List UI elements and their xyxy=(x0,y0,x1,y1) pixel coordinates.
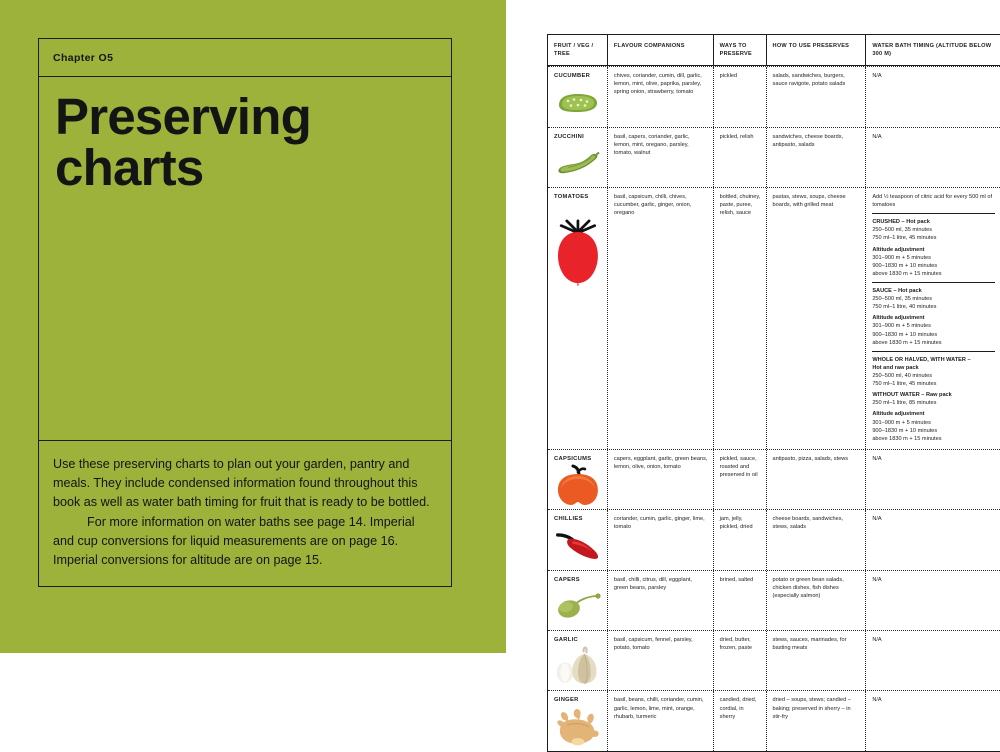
item-name: CUCUMBER xyxy=(554,72,602,80)
water-bath-cell: Add ½ teaspoon of citric acid for every … xyxy=(866,188,1000,449)
ways-to-preserve-cell: candied, dried, cordial, in sherry xyxy=(714,691,767,750)
water-bath-value: N/A xyxy=(872,456,881,462)
row-name-cell: CHILLIES xyxy=(548,510,608,569)
flavour-companions-cell: coriander, cumin, garlic, ginger, lime, … xyxy=(608,510,714,569)
sub-heading: Altitude adjustment xyxy=(872,246,995,254)
table-row: CHILLIES coriander, cumin, garlic, ginge… xyxy=(548,509,1000,569)
how-to-use-cell: antipasto, pizza, salads, stews xyxy=(767,450,867,509)
item-name: CAPERS xyxy=(554,576,602,584)
item-name: CAPSICUMS xyxy=(554,455,602,463)
column-header-1: FRUIT / VEG / TREE xyxy=(548,35,608,65)
item-name: ZUCCHINI xyxy=(554,133,602,141)
right-page: FRUIT / VEG / TREEFLAVOUR COMPANIONSWAYS… xyxy=(506,0,1000,653)
table-row: ZUCCHINI basil, capers, coriander, garli… xyxy=(548,127,1000,187)
item-name: GARLIC xyxy=(554,636,602,644)
water-bath-cell: N/A xyxy=(866,691,1000,750)
timing-line: 250–500 ml, 40 minutes xyxy=(872,372,995,380)
row-name-cell: TOMATOES xyxy=(548,188,608,449)
how-to-use-cell: potato or green bean salads, chicken dis… xyxy=(767,571,867,630)
timing-line: above 1830 m + 15 minutes xyxy=(872,435,995,443)
timing-line: 900–1830 m + 10 minutes xyxy=(872,331,995,339)
timing-line: 900–1830 m + 10 minutes xyxy=(872,427,995,435)
how-to-use-cell: cheese boards, sandwiches, stews, salads xyxy=(767,510,867,569)
water-bath-cell: N/A xyxy=(866,67,1000,126)
water-bath-value: N/A xyxy=(872,577,881,583)
flavour-companions-cell: basil, capsicum, fennel, parsley, potato… xyxy=(608,631,714,690)
water-bath-value: N/A xyxy=(872,697,881,703)
sub-heading: Altitude adjustment xyxy=(872,314,995,322)
ways-to-preserve-cell: brined, salted xyxy=(714,571,767,630)
ways-to-preserve-cell: bottled, chutney, paste, puree, relish, … xyxy=(714,188,767,449)
caper-icon xyxy=(554,586,602,624)
water-bath-value: N/A xyxy=(872,516,881,522)
row-name-cell: CUCUMBER xyxy=(548,67,608,126)
tomato-icon xyxy=(554,203,602,353)
water-bath-section: SAUCE – Hot pack250–500 ml, 35 minutes75… xyxy=(872,282,995,347)
ways-to-preserve-cell: pickled, relish xyxy=(714,128,767,187)
water-bath-cell: N/A xyxy=(866,128,1000,187)
column-header-4: HOW TO USE PRESERVES xyxy=(767,35,867,65)
how-to-use-cell: dried – soups, stews; candied – baking; … xyxy=(767,691,867,750)
chapter-frame: Chapter O5 Preserving charts Use these p… xyxy=(38,38,452,587)
table-row: GARLIC basil, capsicum, fennel, parsley,… xyxy=(548,630,1000,690)
flavour-companions-cell: chives, coriander, cumin, dill, garlic, … xyxy=(608,67,714,126)
how-to-use-cell: pastas, stews, soups, cheese boards, wit… xyxy=(767,188,867,449)
flavour-companions-cell: basil, beans, chilli, coriander, cumin, … xyxy=(608,691,714,750)
chilli-icon xyxy=(554,526,602,564)
timing-line: 750 ml–1 litre, 45 minutes xyxy=(872,234,995,242)
item-name: CHILLIES xyxy=(554,515,602,523)
flavour-companions-cell: basil, capers, coriander, garlic, lemon,… xyxy=(608,128,714,187)
preserving-chart-table: FRUIT / VEG / TREEFLAVOUR COMPANIONSWAYS… xyxy=(547,34,1000,752)
ways-to-preserve-cell: pickled xyxy=(714,67,767,126)
timing-line: 301–900 m + 5 minutes xyxy=(872,254,995,262)
left-page: Chapter O5 Preserving charts Use these p… xyxy=(0,0,506,653)
ginger-icon xyxy=(554,707,602,745)
column-header-3: WAYS TO PRESERVE xyxy=(714,35,767,65)
row-name-cell: CAPSICUMS xyxy=(548,450,608,509)
flavour-companions-cell: basil, capsicum, chilli, chives, cucumbe… xyxy=(608,188,714,449)
timing-line: 750 ml–1 litre, 45 minutes xyxy=(872,380,995,388)
water-bath-value: N/A xyxy=(872,134,881,140)
row-name-cell: GINGER xyxy=(548,691,608,750)
timing-line: above 1830 m + 15 minutes xyxy=(872,270,995,278)
column-header-2: FLAVOUR COMPANIONS xyxy=(608,35,714,65)
item-name: TOMATOES xyxy=(554,193,602,201)
timing-line: 301–900 m + 5 minutes xyxy=(872,419,995,427)
sub-heading: WITHOUT WATER – Raw pack xyxy=(872,391,995,399)
section-heading: CRUSHED – Hot pack xyxy=(872,218,995,226)
timing-line: 750 ml–1 litre, 40 minutes xyxy=(872,303,995,311)
water-bath-cell: N/A xyxy=(866,450,1000,509)
water-bath-cell: N/A xyxy=(866,571,1000,630)
section-heading-2: Hot and raw pack xyxy=(872,364,995,372)
water-bath-value: N/A xyxy=(872,637,881,643)
timing-line: 250 ml–1 litre, 85 minutes xyxy=(872,399,995,407)
section-heading: WHOLE OR HALVED, WITH WATER – xyxy=(872,356,995,364)
column-header-5: WATER BATH TIMING (ALTITUDE BELOW 300 M) xyxy=(866,35,1000,65)
timing-line: 900–1830 m + 10 minutes xyxy=(872,262,995,270)
how-to-use-cell: stews, sauces, marinades, for basting me… xyxy=(767,631,867,690)
item-name: GINGER xyxy=(554,696,602,704)
table-header-row: FRUIT / VEG / TREEFLAVOUR COMPANIONSWAYS… xyxy=(548,35,1000,66)
garlic-icon xyxy=(554,646,602,684)
cucumber-icon xyxy=(554,83,602,121)
water-bath-section: CRUSHED – Hot pack250–500 ml, 35 minutes… xyxy=(872,213,995,278)
timing-line: 250–500 ml, 35 minutes xyxy=(872,295,995,303)
row-name-cell: ZUCCHINI xyxy=(548,128,608,187)
intro-paragraph-2: For more information on water baths see … xyxy=(53,513,433,570)
sub-heading-2: Altitude adjustment xyxy=(872,410,995,418)
timing-line: above 1830 m + 15 minutes xyxy=(872,339,995,347)
zucchini-icon xyxy=(554,143,602,181)
flavour-companions-cell: basil, chilli, citrus, dill, eggplant, g… xyxy=(608,571,714,630)
row-name-cell: CAPERS xyxy=(548,571,608,630)
timing-line: 301–900 m + 5 minutes xyxy=(872,322,995,330)
table-row: CUCUMBER chives, coriander, cumin, dill,… xyxy=(548,66,1000,126)
flavour-companions-cell: capers, eggplant, garlic, green beans, l… xyxy=(608,450,714,509)
water-bath-section: WHOLE OR HALVED, WITH WATER –Hot and raw… xyxy=(872,351,995,443)
row-name-cell: GARLIC xyxy=(548,631,608,690)
ways-to-preserve-cell: jam, jelly, pickled, dried xyxy=(714,510,767,569)
intro-paragraph-1: Use these preserving charts to plan out … xyxy=(53,455,433,512)
chapter-title-zone: Preserving charts xyxy=(39,77,451,193)
ways-to-preserve-cell: pickled, sauce, roasted and preserved in… xyxy=(714,450,767,509)
water-bath-value: N/A xyxy=(872,73,881,79)
ways-to-preserve-cell: dried, butter, frozen, paste xyxy=(714,631,767,690)
how-to-use-cell: sandwiches, cheese boards, antipasto, sa… xyxy=(767,128,867,187)
section-heading: SAUCE – Hot pack xyxy=(872,287,995,295)
capsicum-icon xyxy=(554,465,602,503)
intro-block: Use these preserving charts to plan out … xyxy=(39,440,451,586)
table-row: CAPERS basil, chilli, citrus, dill, eggp… xyxy=(548,570,1000,630)
chapter-label: Chapter O5 xyxy=(53,52,113,64)
how-to-use-cell: salads, sandwiches, burgers, sauce ravig… xyxy=(767,67,867,126)
table-row: GINGER basil, beans, chilli, coriander, … xyxy=(548,690,1000,750)
water-bath-cell: N/A xyxy=(866,510,1000,569)
page-title: Preserving charts xyxy=(55,91,435,193)
water-bath-note: Add ½ teaspoon of citric acid for every … xyxy=(872,193,995,209)
chapter-label-row: Chapter O5 xyxy=(39,39,451,77)
water-bath-cell: N/A xyxy=(866,631,1000,690)
table-row: CAPSICUMS capers, eggplant, garlic, gree… xyxy=(548,449,1000,509)
table-row: TOMATOES basil, capsicum, chilli, chives… xyxy=(548,187,1000,449)
timing-line: 250–500 ml, 35 minutes xyxy=(872,226,995,234)
